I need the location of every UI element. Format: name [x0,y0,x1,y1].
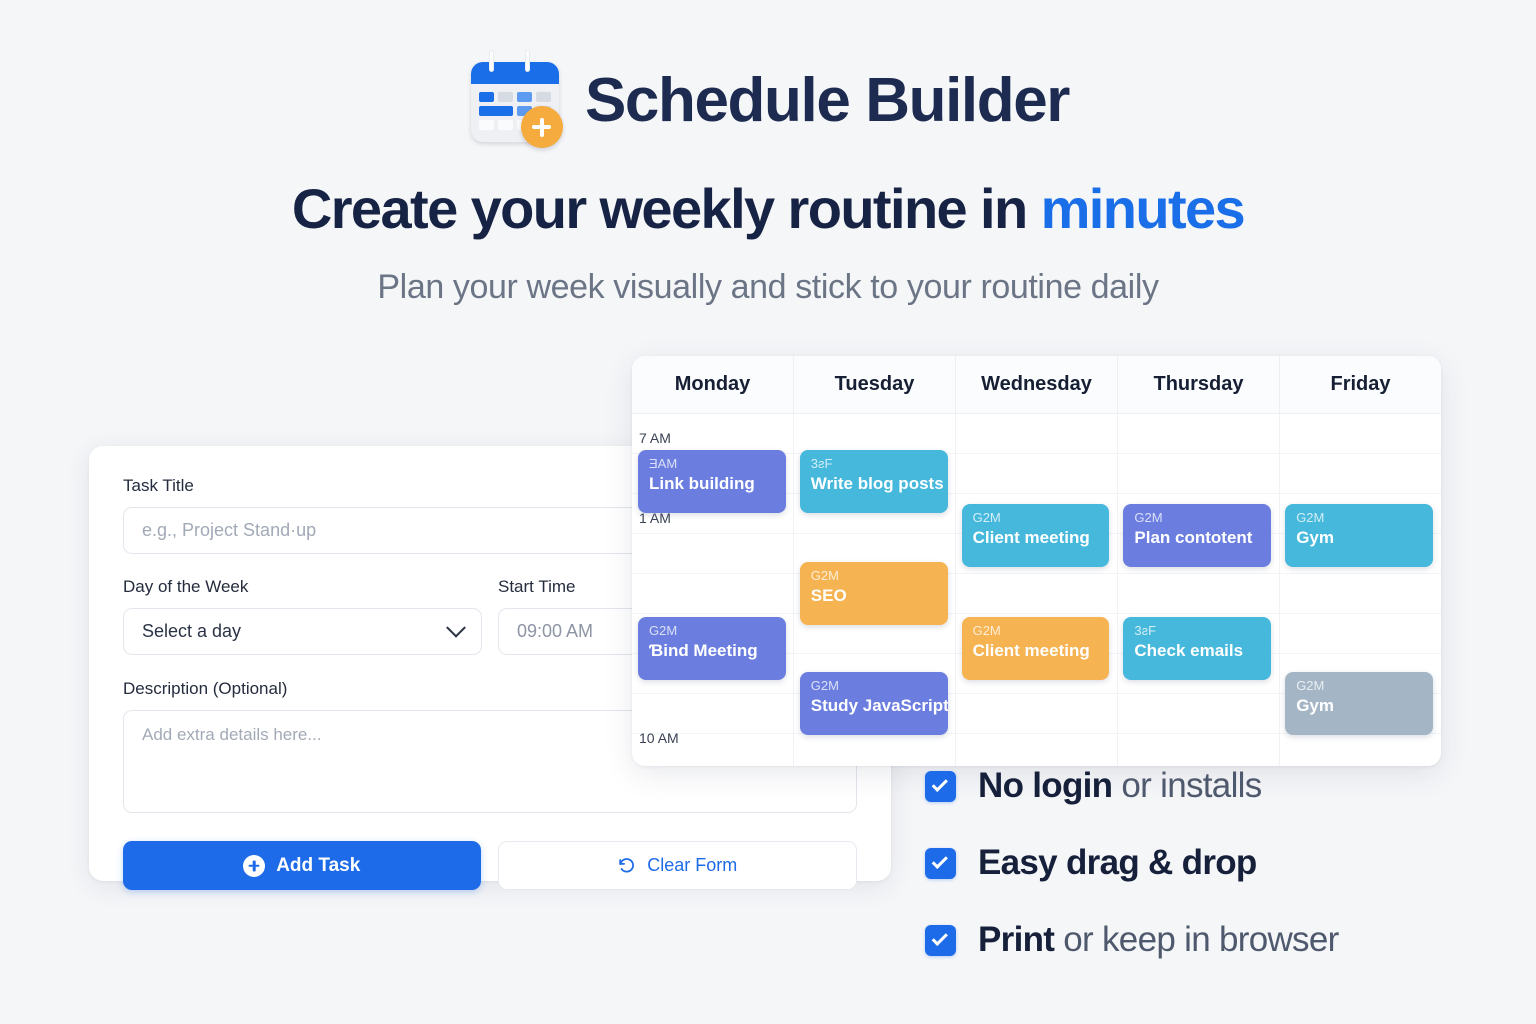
calendar-event[interactable]: G2MClient meeting [962,617,1110,680]
check-icon [932,776,948,792]
hero-headline: Create your weekly routine in minutes [0,176,1536,241]
feature-item: Easy drag & drop [925,843,1485,883]
calendar-event[interactable]: ƎAMLink building [638,450,786,513]
calendar-event[interactable]: G2MGym [1285,504,1433,567]
day-of-week-value: Select a day [142,621,241,642]
check-icon [932,930,948,946]
add-task-button[interactable]: Add Task [123,841,481,890]
calendar-event-time: 3ƨF [1134,624,1260,638]
calendar-day-header: Thursday [1118,356,1280,413]
calendar-event-time: G2M [973,511,1099,525]
calendar-day-header: Tuesday [794,356,956,413]
calendar-event-title: Link building [649,474,775,494]
brand-header: Schedule Builder [0,52,1536,148]
calendar-event-title: Gym [1296,696,1422,716]
calendar-event-title: Plan contotent [1134,528,1260,548]
calendar-hour-label: 7 AM [639,430,671,446]
calendar-event-title: Gym [1296,528,1422,548]
feature-label-strong: Print [978,920,1054,959]
feature-item: Print or keep in browser [925,920,1485,960]
reset-icon [617,856,636,875]
feature-label: No login or installs [978,766,1262,806]
calendar-plus-icon [467,52,563,148]
hero-subhead: Plan your week visually and stick to you… [0,268,1536,307]
page-title: Schedule Builder [585,65,1069,136]
calendar-day-header-row: MondayTuesdayWednesdayThursdayFriday [632,356,1441,414]
calendar-event-time: 3ƨF [811,457,937,471]
calendar-day-header: Wednesday [956,356,1118,413]
calendar-event[interactable]: 3ƨFCheck emails [1123,617,1271,680]
calendar-event-title: Write blog posts [811,474,937,494]
feature-list: No login or installsEasy drag & dropPrin… [925,766,1485,997]
feature-label-strong: No login [978,766,1112,805]
feature-label-rest: or installs [1112,766,1261,805]
calendar-day-header: Friday [1280,356,1441,413]
hero-headline-main: Create your weekly routine in [292,177,1027,240]
calendar-event-title: Ɓind Meeting [649,641,775,661]
plus-icon [243,855,265,877]
add-task-label: Add Task [276,855,360,877]
feature-label-strong: Easy drag & drop [978,843,1257,882]
feature-item: No login or installs [925,766,1485,806]
calendar-event[interactable]: 3ƨFWrite blog posts [800,450,948,513]
clear-form-label: Clear Form [647,855,737,876]
calendar-event-time: G2M [811,569,937,583]
calendar-event-time: G2M [1134,511,1260,525]
calendar-event[interactable]: G2MGym [1285,672,1433,735]
start-time-value: 09:00 AM [517,621,593,642]
calendar-event[interactable]: G2MSEO [800,562,948,625]
calendar-event-title: SEO [811,586,937,606]
calendar-event-time: ƎAM [649,457,775,471]
check-icon [932,853,948,869]
calendar-event-title: Study JavaScript [811,696,937,716]
day-of-week-select[interactable]: Select a day [123,608,482,655]
feature-label: Print or keep in browser [978,920,1339,960]
calendar-event[interactable]: G2MPlan contotent [1123,504,1271,567]
clear-form-button[interactable]: Clear Form [498,841,858,890]
calendar-event-title: Check emails [1134,641,1260,661]
calendar-event-title: Client meeting [973,528,1099,548]
calendar-event-time: G2M [649,624,775,638]
hero-headline-accent: minutes [1041,177,1245,240]
calendar-event[interactable]: G2MStudy JavaScript [800,672,948,735]
checkbox-checked-icon[interactable] [925,925,956,956]
feature-label-rest: or keep in browser [1054,920,1338,959]
checkbox-checked-icon[interactable] [925,771,956,802]
calendar-event-time: G2M [1296,679,1422,693]
chevron-down-icon [446,617,466,637]
day-of-week-label: Day of the Week [123,577,482,597]
calendar-event-time: G2M [811,679,937,693]
weekly-calendar-card: MondayTuesdayWednesdayThursdayFriday 7 A… [632,356,1441,766]
calendar-event-time: G2M [1296,511,1422,525]
checkbox-checked-icon[interactable] [925,848,956,879]
calendar-event-title: Client meeting [973,641,1099,661]
feature-label: Easy drag & drop [978,843,1257,883]
calendar-event[interactable]: G2MƁind Meeting [638,617,786,680]
calendar-hour-label: 10 AM [639,730,679,746]
plus-badge-icon [521,106,563,148]
calendar-grid[interactable]: 7 AM1 AM9 AM10 AM ƎAMLink building3ƨFWri… [632,414,1441,766]
calendar-day-header: Monday [632,356,794,413]
calendar-event-time: G2M [973,624,1099,638]
calendar-event[interactable]: G2MClient meeting [962,504,1110,567]
